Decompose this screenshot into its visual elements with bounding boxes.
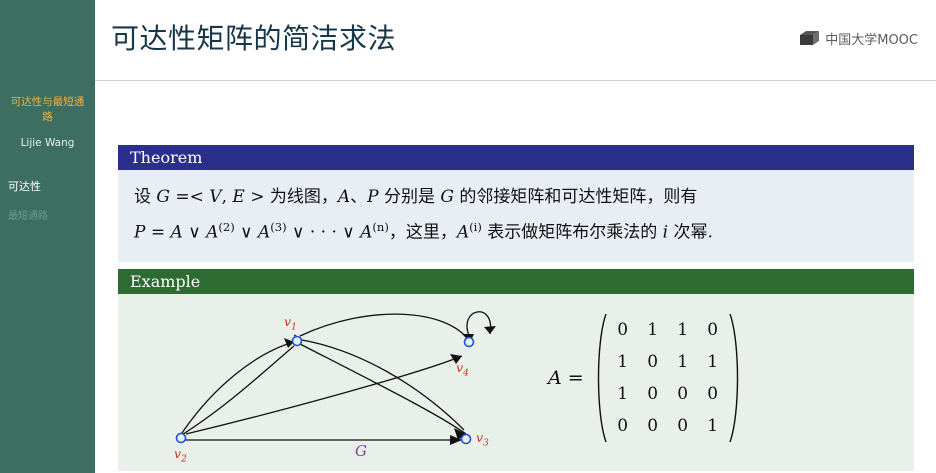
theorem-text-7: 的邻接矩阵和可达性矩阵，则有 <box>454 187 697 207</box>
matrix-cell: 0 <box>668 384 698 404</box>
formula-text-mid: ，这里， <box>389 223 457 243</box>
theorem-text-1: 设 <box>134 187 156 207</box>
matrix-cell: 0 <box>638 352 668 372</box>
formula-sup-i: (i) <box>469 220 482 234</box>
formula-symbol-a3: A <box>258 223 270 243</box>
sidebar-header-block <box>0 0 95 80</box>
formula-sup-n: (n) <box>372 220 388 234</box>
theorem-line-2: P = A ∨ A(2) ∨ A(3) ∨ · · · ∨ A(n)，这里，A(… <box>134 212 898 248</box>
theorem-block-title: Theorem <box>118 145 914 170</box>
sidebar-item-shortest-path[interactable]: 最短通路 <box>8 207 91 222</box>
formula-or-2: ∨ <box>235 223 258 243</box>
slide-header: 可达性矩阵的简洁求法 中国大学MOOC <box>95 0 936 81</box>
example-block-title: Example <box>118 269 914 294</box>
graph-figure <box>118 294 914 471</box>
matrix-cell: 1 <box>698 352 728 372</box>
sidebar: 可达性与最短通路 Lijie Wang 可达性 最短通路 <box>0 0 95 473</box>
adjacency-matrix: A = 0 1 1 0 1 0 1 1 1 0 <box>548 312 744 444</box>
symbol-g2: G <box>440 187 454 207</box>
brand-label: 中国大学MOOC <box>825 29 918 48</box>
matrix-right-paren-icon <box>728 312 744 444</box>
matrix-cell: 0 <box>638 416 668 436</box>
formula-symbol-p: P <box>134 223 145 243</box>
brand-logo: 中国大学MOOC <box>800 29 918 48</box>
matrix-cell: 0 <box>698 384 728 404</box>
formula-sup-2: (2) <box>218 220 234 234</box>
formula-text-tail-pre: 表示做矩阵布尔乘法的 <box>482 223 663 243</box>
matrix-cell: 1 <box>608 384 638 404</box>
matrix-cell: 0 <box>608 416 638 436</box>
formula-eq: = <box>145 223 170 243</box>
formula-text-tail: 次幂. <box>668 223 713 243</box>
formula-symbol-an: A <box>360 223 372 243</box>
symbol-a: A <box>338 187 350 207</box>
formula-or-3: ∨ · · · ∨ <box>287 223 361 243</box>
matrix-cell: 1 <box>668 320 698 340</box>
formula-or-1: ∨ <box>183 223 206 243</box>
matrix-symbol: A = <box>548 367 584 389</box>
graph-name-label: G <box>355 442 367 460</box>
matrix-cells: 0 1 1 0 1 0 1 1 1 0 0 0 0 0 0 <box>608 314 728 442</box>
matrix-cell: 1 <box>698 416 728 436</box>
symbol-e: E <box>232 187 244 207</box>
sidebar-author: Lijie Wang <box>6 137 89 149</box>
theorem-block-body: 设 G =< V, E > 为线图，A、P 分别是 G 的邻接矩阵和可达性矩阵，… <box>118 170 914 262</box>
symbol-p: P <box>367 187 378 207</box>
vertex-label-v4: v4 <box>456 360 469 379</box>
theorem-text-2: =< <box>170 187 209 207</box>
page-title: 可达性矩阵的简洁求法 <box>111 17 396 57</box>
matrix-cell: 1 <box>638 320 668 340</box>
sidebar-chapter-title: 可达性与最短通路 <box>6 95 89 125</box>
theorem-block: Theorem 设 G =< V, E > 为线图，A、P 分别是 G 的邻接矩… <box>118 145 914 262</box>
slide-content: Theorem 设 G =< V, E > 为线图，A、P 分别是 G 的邻接矩… <box>95 81 936 473</box>
formula-sup-3: (3) <box>270 220 286 234</box>
formula-symbol-a2: A <box>206 223 218 243</box>
theorem-line-1: 设 G =< V, E > 为线图，A、P 分别是 G 的邻接矩阵和可达性矩阵，… <box>134 182 898 212</box>
cube-logo-icon <box>800 31 820 46</box>
sidebar-item-reachability[interactable]: 可达性 <box>8 178 91 194</box>
symbol-g: G <box>156 187 170 207</box>
vertex-label-v2: v2 <box>174 446 187 465</box>
formula-symbol-ai: A <box>457 223 469 243</box>
matrix-cell: 0 <box>608 320 638 340</box>
symbol-v: V <box>209 187 221 207</box>
matrix-cell: 1 <box>608 352 638 372</box>
vertex-label-v1: v1 <box>284 314 297 333</box>
matrix-cell: 0 <box>638 384 668 404</box>
example-block-body: v1 v2 v3 v4 G A = 0 1 1 0 1 0 <box>118 294 914 471</box>
theorem-text-4: > 为线图， <box>245 187 338 207</box>
slide: 可达性与最短通路 Lijie Wang 可达性 最短通路 可达性矩阵的简洁求法 … <box>0 0 936 473</box>
theorem-text-5: 、 <box>350 187 367 207</box>
vertex-label-v3: v3 <box>476 430 489 449</box>
matrix-cell: 0 <box>698 320 728 340</box>
matrix-left-paren-icon <box>592 312 608 444</box>
theorem-text-3: , <box>222 187 233 207</box>
theorem-text-6: 分别是 <box>379 187 441 207</box>
matrix-cell: 1 <box>668 352 698 372</box>
formula-symbol-a: A <box>171 223 183 243</box>
matrix-cell: 0 <box>668 416 698 436</box>
example-block: Example <box>118 269 914 471</box>
